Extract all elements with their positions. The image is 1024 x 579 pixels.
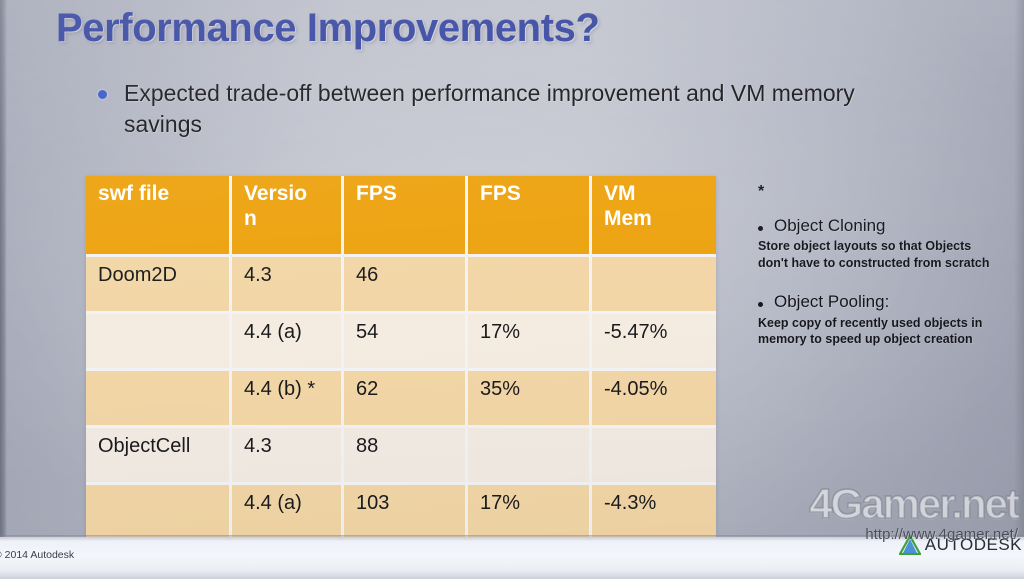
autodesk-wordmark: AUTODESK (925, 535, 1022, 555)
performance-table: swf file Versio n FPS FPS (86, 176, 716, 579)
cell-vm-mem (592, 257, 716, 314)
cell-fps: 54 (344, 314, 468, 371)
table-row: Doom2D 4.3 46 (86, 257, 716, 314)
header-line-1: FPS (356, 182, 453, 207)
autodesk-logo: AUTODESK (899, 535, 1022, 555)
header-line-1: Versio (244, 182, 329, 207)
header-line-2: Mem (604, 207, 704, 232)
table-row: ObjectCell 4.3 88 (86, 428, 716, 485)
bullet-dot-icon (98, 90, 107, 99)
note-object-cloning: Object Cloning Store object layouts so t… (758, 216, 998, 272)
header-line-1: VM (604, 182, 704, 207)
cell-version: 4.4 (a) (232, 314, 344, 371)
cell-swf-file (86, 314, 232, 371)
cell-fps: 46 (344, 257, 468, 314)
intro-bullet-text: Expected trade-off between performance i… (124, 78, 928, 139)
cell-fps: 103 (344, 485, 468, 542)
cell-vm-mem: -5.47% (592, 314, 716, 371)
cell-fps-delta: 17% (468, 314, 592, 371)
column-header-swf-file: swf file (86, 176, 232, 257)
side-notes: * Object Cloning Store object layouts so… (758, 184, 998, 368)
cell-fps-delta: 35% (468, 371, 592, 428)
cell-fps-delta (468, 428, 592, 485)
cell-vm-mem: -4.3% (592, 485, 716, 542)
header-line-1: FPS (480, 182, 577, 207)
cell-vm-mem: -4.05% (592, 371, 716, 428)
copyright-text: © 2014 Autodesk (0, 549, 74, 561)
autodesk-mark-icon (899, 535, 921, 555)
slide-photo: Performance Improvements? Expected trade… (0, 0, 1024, 579)
cell-version: 4.3 (232, 428, 344, 485)
table-header-row: swf file Versio n FPS FPS (86, 176, 716, 257)
performance-table-wrapper: swf file Versio n FPS FPS (86, 176, 716, 579)
cell-version: 4.3 (232, 257, 344, 314)
cell-swf-file: Doom2D (86, 257, 232, 314)
table-row: 4.4 (a) 54 17% -5.47% (86, 314, 716, 371)
table-row: 4.4 (b) * 62 35% -4.05% (86, 371, 716, 428)
intro-bullet: Expected trade-off between performance i… (98, 78, 928, 139)
column-header-vm-mem: VM Mem (592, 176, 716, 257)
column-header-fps: FPS (344, 176, 468, 257)
table-row: 4.4 (a) 103 17% -4.3% (86, 485, 716, 542)
note-body-text: Keep copy of recently used objects in me… (758, 315, 998, 349)
cell-swf-file (86, 371, 232, 428)
screen-right-edge (1014, 0, 1024, 579)
cell-swf-file (86, 485, 232, 542)
header-line-1: swf file (98, 182, 217, 207)
bullet-dot-icon (758, 302, 763, 307)
note-body-text: Store object layouts so that Objects don… (758, 238, 998, 272)
note-heading: Object Cloning (774, 216, 998, 236)
screen-left-edge (0, 0, 7, 579)
column-header-fps-delta: FPS (468, 176, 592, 257)
cell-vm-mem (592, 428, 716, 485)
desk-surface: © 2014 Autodesk AUTODESK (0, 537, 1024, 579)
header-line-2: n (244, 207, 329, 232)
cell-fps-delta (468, 257, 592, 314)
note-object-pooling: Object Pooling: Keep copy of recently us… (758, 292, 998, 348)
note-heading: Object Pooling: (774, 292, 998, 312)
cell-fps: 62 (344, 371, 468, 428)
cell-fps: 88 (344, 428, 468, 485)
footnote-asterisk: * (758, 184, 998, 200)
cell-version: 4.4 (a) (232, 485, 344, 542)
cell-version: 4.4 (b) * (232, 371, 344, 428)
cell-swf-file: ObjectCell (86, 428, 232, 485)
cell-fps-delta: 17% (468, 485, 592, 542)
page-title: Performance Improvements? (56, 6, 600, 51)
column-header-version: Versio n (232, 176, 344, 257)
bullet-dot-icon (758, 226, 763, 231)
